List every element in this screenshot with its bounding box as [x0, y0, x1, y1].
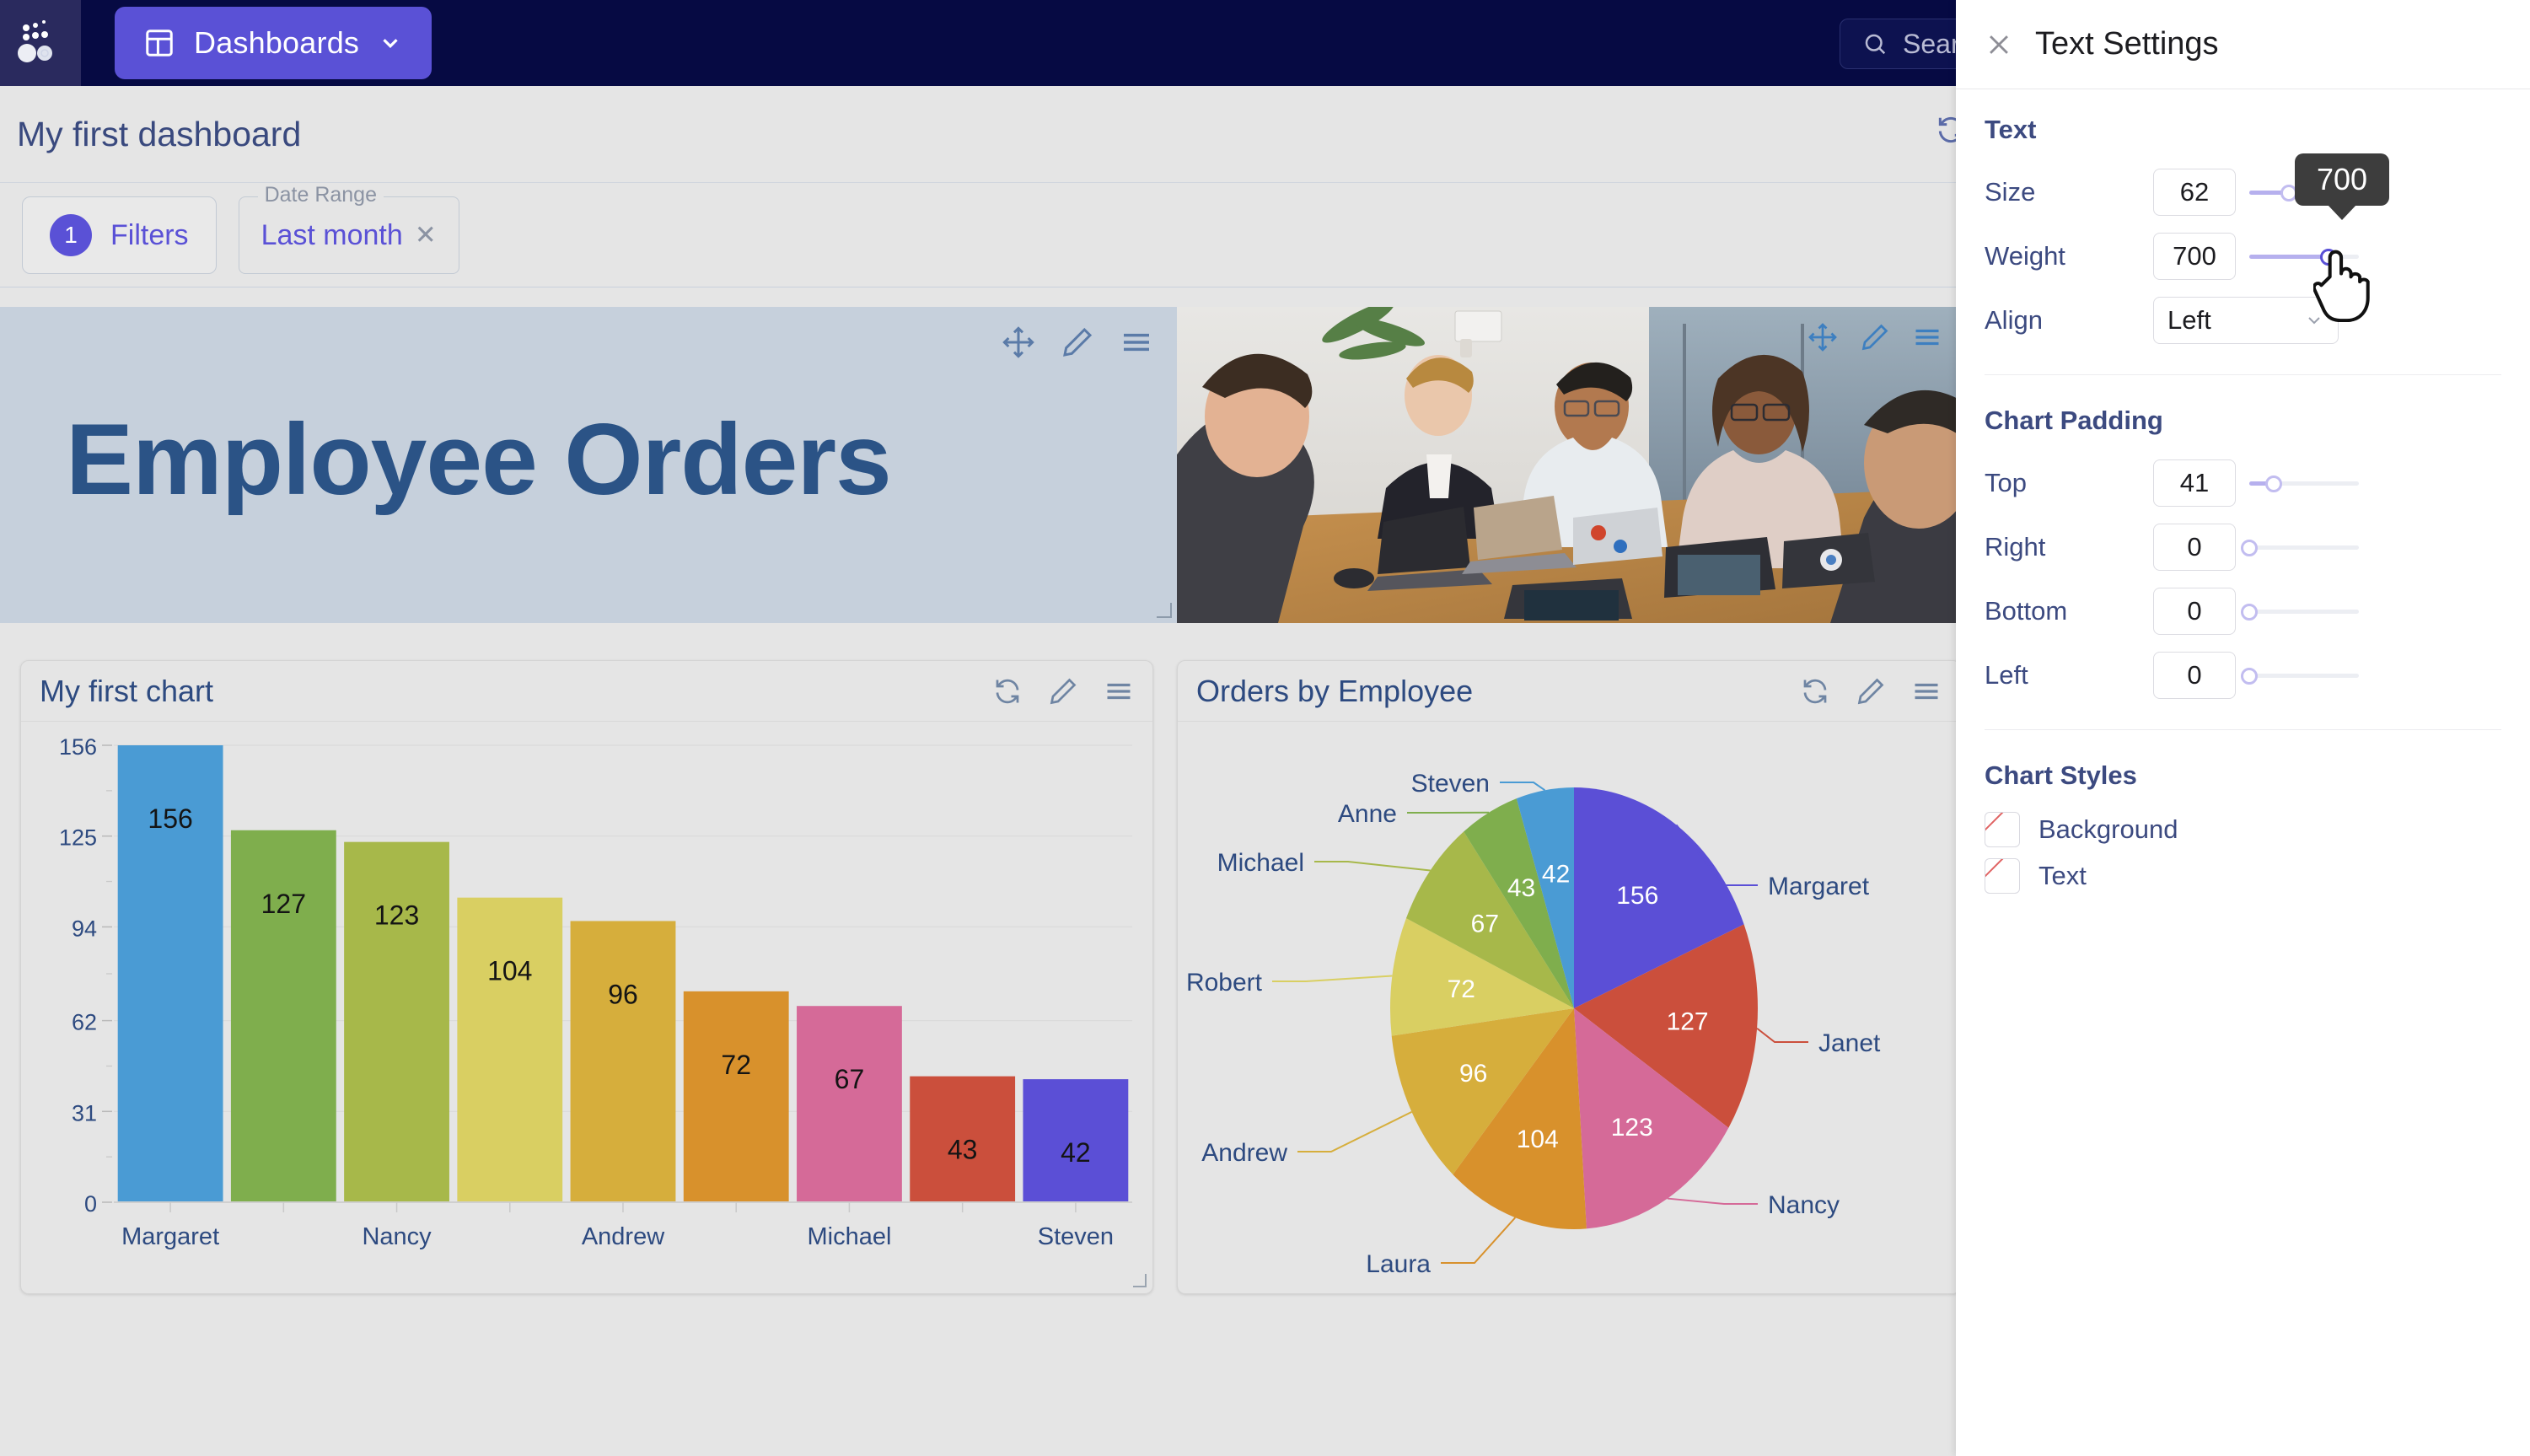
svg-text:127: 127 — [261, 889, 306, 919]
pencil-icon[interactable] — [1048, 676, 1078, 707]
section-padding-title: Chart Padding — [1985, 406, 2501, 436]
color-swatch-none-icon[interactable] — [1985, 858, 2020, 894]
pie-chart-title: Orders by Employee — [1196, 674, 1800, 709]
text-settings-panel: Text Settings Text Size Weight — [1956, 0, 2530, 1456]
hamburger-icon[interactable] — [1104, 676, 1134, 707]
pie-chart-card[interactable]: Orders by Employee 156Margaret127Janet12… — [1177, 660, 1961, 1294]
svg-text:Margaret: Margaret — [1768, 873, 1870, 900]
divider — [1985, 729, 2501, 730]
section-chart-styles: Chart Styles BackgroundText — [1956, 735, 2530, 904]
close-icon[interactable] — [1985, 30, 2013, 59]
style-row-text: Text — [1985, 852, 2501, 899]
divider — [1985, 374, 2501, 375]
hamburger-icon[interactable] — [1912, 322, 1942, 352]
svg-text:123: 123 — [374, 900, 419, 931]
padding-slider[interactable] — [2249, 599, 2359, 624]
date-range-legend: Date Range — [258, 183, 384, 207]
section-text-title: Text — [1985, 115, 2501, 145]
resize-handle[interactable] — [1133, 1274, 1147, 1287]
dashboards-label: Dashboards — [194, 25, 359, 61]
padding-input[interactable] — [2153, 459, 2236, 507]
svg-text:43: 43 — [1507, 874, 1535, 902]
resize-handle[interactable] — [1157, 603, 1172, 618]
panel-header: Text Settings — [1956, 0, 2530, 89]
svg-text:Michael: Michael — [1217, 849, 1304, 877]
filters-button[interactable]: 1 Filters — [22, 196, 217, 274]
text-widget-heading: Employee Orders — [66, 401, 891, 518]
weight-input[interactable] — [2153, 233, 2236, 280]
search-icon — [1862, 31, 1888, 56]
row-padding-bottom: Bottom — [1985, 579, 2501, 643]
refresh-icon[interactable] — [992, 676, 1023, 707]
slider-tooltip: 700 — [2295, 153, 2389, 206]
filters-label: Filters — [110, 219, 189, 252]
row-weight: Weight — [1985, 224, 2501, 288]
pie-chart-header: Orders by Employee — [1178, 661, 1960, 722]
svg-text:123: 123 — [1611, 1114, 1653, 1142]
svg-text:Andrew: Andrew — [1201, 1139, 1287, 1167]
pencil-icon[interactable] — [1860, 322, 1890, 352]
bar-chart-header: My first chart — [21, 661, 1152, 722]
text-widget-toolbar — [1002, 325, 1153, 359]
svg-text:Robert: Robert — [1186, 969, 1263, 997]
svg-text:43: 43 — [948, 1135, 978, 1165]
row-padding-top: Top — [1985, 451, 2501, 515]
weight-label: Weight — [1985, 241, 2153, 271]
refresh-icon[interactable] — [1800, 676, 1830, 707]
bar-chart-card[interactable]: My first chart 0316294125156156127123104… — [20, 660, 1153, 1294]
move-icon[interactable] — [1002, 325, 1035, 359]
color-swatch-none-icon[interactable] — [1985, 812, 2020, 847]
image-widget[interactable] — [1177, 307, 1961, 623]
svg-text:Andrew: Andrew — [582, 1223, 665, 1250]
svg-text:94: 94 — [72, 916, 97, 941]
svg-text:127: 127 — [1667, 1008, 1709, 1036]
section-text: Text Size Weight A — [1956, 89, 2530, 380]
padding-label: Top — [1985, 468, 2153, 498]
section-chart-padding: Chart Padding TopRightBottomLeft — [1956, 380, 2530, 735]
panel-title: Text Settings — [2035, 26, 2219, 62]
svg-text:42: 42 — [1061, 1137, 1091, 1168]
padding-slider[interactable] — [2249, 535, 2359, 560]
svg-text:31: 31 — [72, 1100, 97, 1126]
svg-text:Nancy: Nancy — [362, 1223, 432, 1250]
close-x-icon[interactable]: ✕ — [415, 220, 437, 250]
pencil-icon[interactable] — [1061, 325, 1094, 359]
svg-text:96: 96 — [1459, 1060, 1487, 1088]
svg-text:Janet: Janet — [1818, 1029, 1881, 1057]
date-range-value: Last month — [261, 219, 403, 252]
svg-text:67: 67 — [835, 1064, 865, 1094]
row-padding-right: Right — [1985, 515, 2501, 579]
row-size: Size — [1985, 160, 2501, 224]
svg-text:156: 156 — [1616, 882, 1658, 910]
svg-text:0: 0 — [84, 1191, 97, 1217]
svg-text:Steven: Steven — [1411, 770, 1490, 798]
svg-text:72: 72 — [1448, 975, 1475, 1003]
text-widget[interactable]: Employee Orders — [0, 307, 1177, 623]
row-padding-left: Left — [1985, 643, 2501, 707]
padding-input[interactable] — [2153, 588, 2236, 635]
pie-chart-toolbar — [1800, 676, 1942, 707]
padding-slider[interactable] — [2249, 663, 2359, 688]
hamburger-icon[interactable] — [1120, 325, 1153, 359]
svg-text:156: 156 — [59, 734, 97, 760]
dashboards-button[interactable]: Dashboards — [115, 7, 432, 79]
svg-text:72: 72 — [721, 1050, 751, 1080]
section-styles-title: Chart Styles — [1985, 760, 2501, 791]
svg-text:Michael: Michael — [807, 1223, 891, 1250]
dashboard-grid-icon — [143, 27, 175, 59]
pointing-hand-cursor — [2313, 244, 2372, 322]
svg-text:Margaret: Margaret — [121, 1223, 219, 1250]
style-row-background: Background — [1985, 806, 2501, 852]
svg-text:125: 125 — [59, 825, 97, 851]
svg-text:104: 104 — [1517, 1126, 1559, 1153]
size-input[interactable] — [2153, 169, 2236, 216]
padding-label: Right — [1985, 532, 2153, 562]
svg-text:96: 96 — [608, 979, 638, 1009]
image-widget-toolbar — [1808, 322, 1942, 352]
move-icon[interactable] — [1808, 322, 1838, 352]
style-label: Text — [2039, 861, 2087, 891]
svg-text:Steven: Steven — [1038, 1223, 1114, 1250]
app-logo[interactable] — [0, 0, 81, 86]
svg-text:Laura: Laura — [1366, 1250, 1431, 1278]
pencil-icon[interactable] — [1856, 676, 1886, 707]
chevron-down-icon — [378, 30, 403, 56]
bar-chart-title: My first chart — [40, 674, 992, 709]
svg-text:62: 62 — [72, 1010, 97, 1035]
padding-slider[interactable] — [2249, 470, 2359, 496]
page-title: My first dashboard — [17, 115, 301, 154]
svg-text:156: 156 — [148, 803, 192, 834]
align-select[interactable]: Left — [2153, 297, 2339, 344]
row-align: Align Left — [1985, 288, 2501, 352]
svg-text:42: 42 — [1542, 861, 1570, 889]
padding-label: Left — [1985, 660, 2153, 690]
style-label: Background — [2039, 814, 2178, 845]
metabase-logo-icon — [18, 19, 63, 67]
date-range-filter[interactable]: Date Range Last month ✕ — [239, 196, 459, 274]
bar-chart-toolbar — [992, 676, 1134, 707]
hamburger-icon[interactable] — [1911, 676, 1942, 707]
svg-text:Nancy: Nancy — [1768, 1191, 1840, 1219]
align-label: Align — [1985, 305, 2153, 336]
svg-text:Anne: Anne — [1338, 800, 1397, 828]
size-label: Size — [1985, 177, 2153, 207]
filters-count-badge: 1 — [50, 214, 92, 256]
svg-text:104: 104 — [487, 956, 532, 986]
bar-chart-plot[interactable]: 03162941251561561271231049672674342Marga… — [21, 722, 1152, 1293]
padding-label: Bottom — [1985, 596, 2153, 626]
align-value: Left — [2167, 305, 2304, 336]
app-root: Dashboards Search… My first dashboard 1 … — [0, 0, 2530, 1456]
padding-input[interactable] — [2153, 524, 2236, 571]
padding-input[interactable] — [2153, 652, 2236, 699]
pie-chart-plot[interactable]: 156Margaret127Janet123Nancy104Laura96And… — [1178, 722, 1960, 1293]
svg-text:67: 67 — [1471, 911, 1499, 938]
office-team-meeting-photo — [1177, 307, 1961, 623]
